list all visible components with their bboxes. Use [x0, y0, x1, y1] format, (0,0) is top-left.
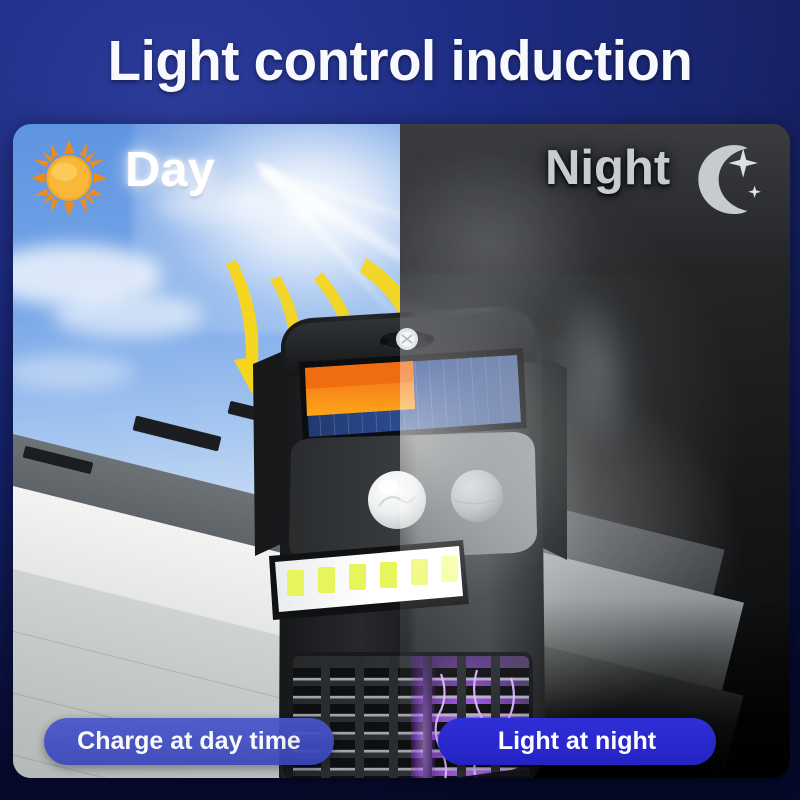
page-background: Light control induction	[0, 0, 800, 800]
night-label: Night	[545, 140, 670, 196]
sun-icon	[31, 140, 107, 216]
solar-lamp-device	[245, 244, 575, 778]
product-scene-panel: Day	[13, 124, 790, 778]
secondary-lens	[451, 470, 503, 522]
day-label: Day	[125, 142, 215, 198]
moon-icon	[678, 138, 764, 218]
caption-light-at-night: Light at night	[438, 718, 716, 765]
page-title: Light control induction	[16, 28, 784, 94]
cloud	[13, 354, 133, 390]
caption-charge-at-day: Charge at day time	[44, 718, 334, 765]
roof-shingle	[132, 416, 221, 452]
pir-sensor-dome	[368, 471, 426, 529]
